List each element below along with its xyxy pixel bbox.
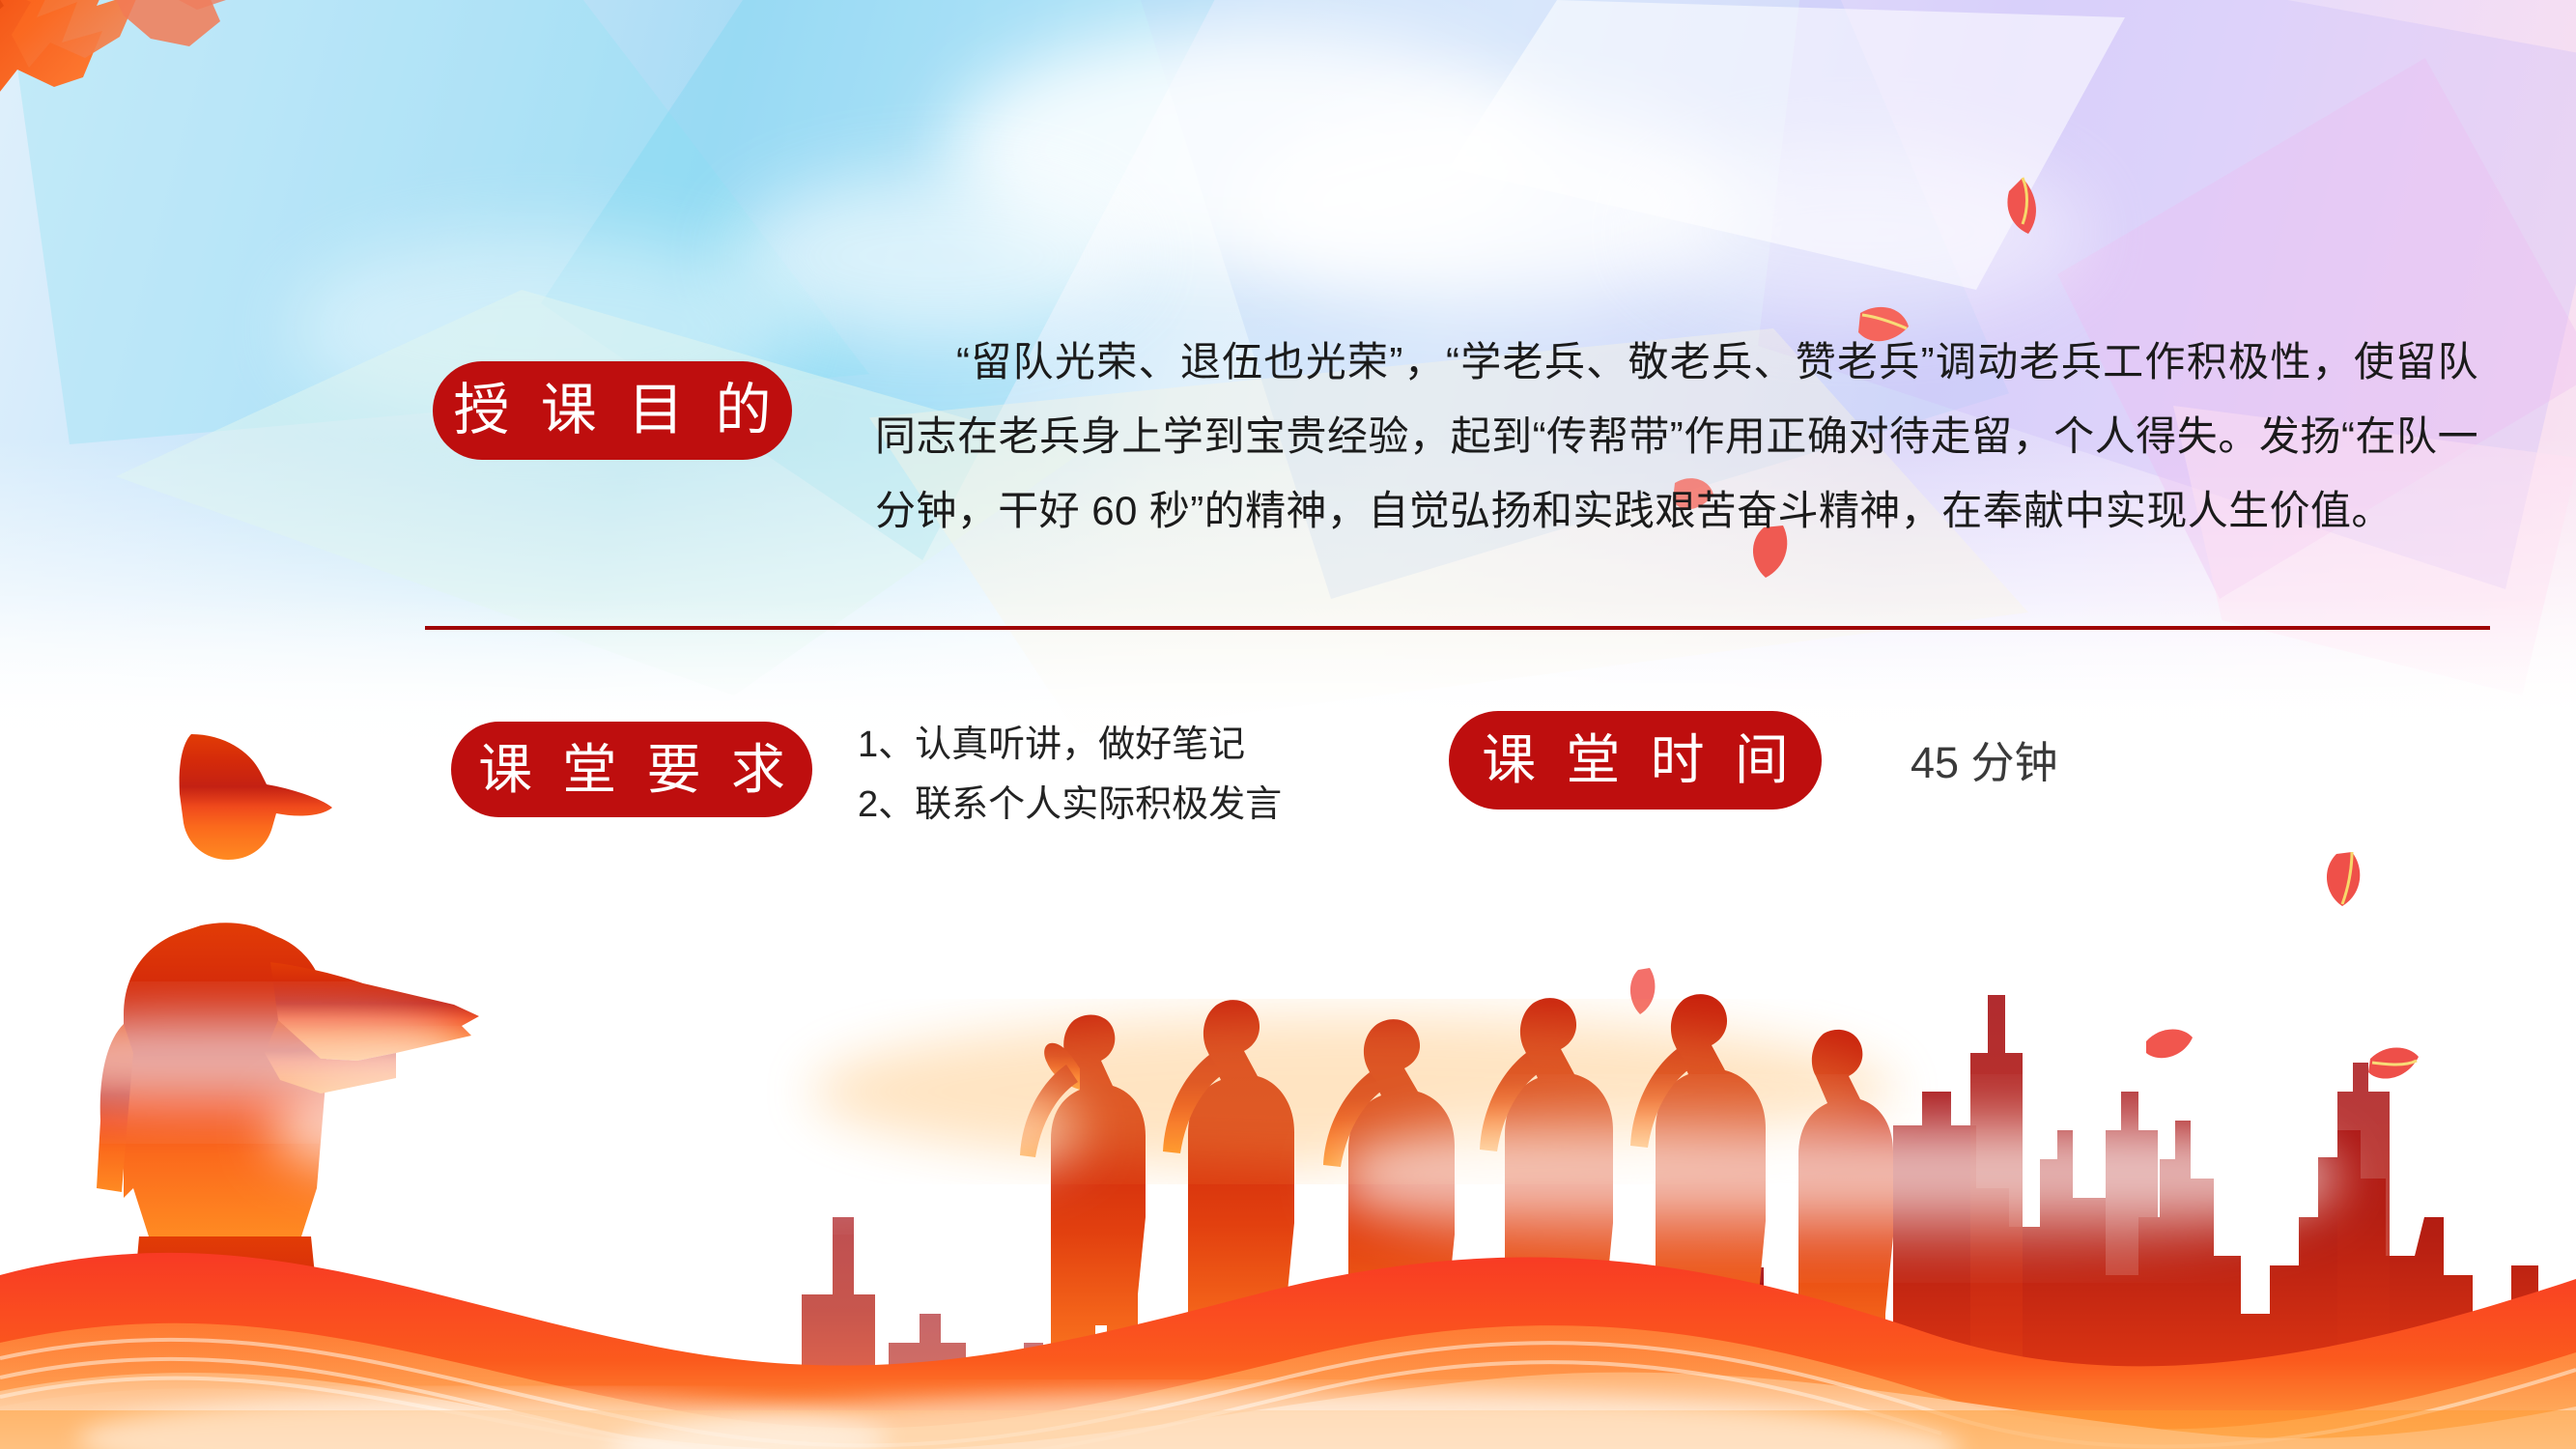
- badge-class-requirements[interactable]: 课 堂 要 求: [451, 722, 812, 817]
- maple-leaf-icon: [0, 0, 270, 184]
- badge-class-time[interactable]: 课 堂 时 间: [1449, 711, 1822, 810]
- teaching-purpose-paragraph: “留队光荣、退伍也光荣”，“学老兵、敬老兵、赞老兵”调动老兵工作积极性，使留队同…: [875, 325, 2478, 548]
- slide-canvas: 授 课 目 的 “留队光荣、退伍也光荣”，“学老兵、敬老兵、赞老兵”调动老兵工作…: [0, 0, 2576, 1449]
- list-item: 2、联系个人实际积极发言: [858, 775, 1399, 835]
- badge-teaching-purpose[interactable]: 授 课 目 的: [433, 361, 792, 460]
- section-divider: [425, 626, 2490, 630]
- cloud-shape: [1642, 145, 2086, 319]
- class-requirements-list: 1、认真听讲，做好笔记 2、联系个人实际积极发言: [858, 715, 1399, 835]
- cloud-shape: [734, 174, 1140, 338]
- class-time-value: 45 分钟: [1911, 736, 2058, 789]
- list-item: 1、认真听讲，做好笔记: [858, 715, 1399, 775]
